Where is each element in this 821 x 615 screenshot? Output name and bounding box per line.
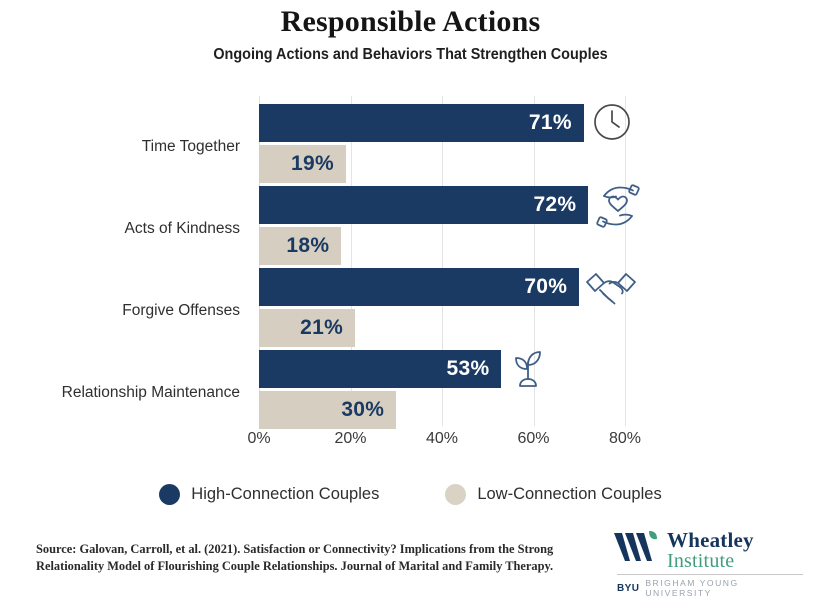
bar-value-label: 72% (533, 193, 588, 217)
logo-divider (617, 574, 803, 575)
x-axis-tick-label: 80% (609, 430, 641, 448)
legend-item[interactable]: Low-Connection Couples (445, 484, 661, 505)
logo-word-wheatley: Wheatley (667, 530, 754, 551)
x-axis-tick-label: 40% (426, 430, 458, 448)
bar: 21% (259, 309, 355, 347)
legend-swatch (445, 484, 466, 505)
bar-value-label: 19% (291, 152, 346, 176)
clock-icon (590, 100, 636, 146)
wheatley-institute-logo: Wheatley Institute BYU BRIGHAM YOUNG UNI… (613, 528, 805, 590)
legend-swatch (159, 484, 180, 505)
bar: 30% (259, 391, 396, 429)
x-axis-tick-label: 60% (517, 430, 549, 448)
source-line-2: Relationality Model of Flourishing Coupl… (36, 558, 581, 575)
bar-value-label: 30% (341, 398, 396, 422)
chart-legend: High-Connection CouplesLow-Connection Co… (0, 484, 821, 505)
bar-value-label: 21% (300, 316, 355, 340)
x-axis: 0%20%40%60%80% (259, 430, 679, 454)
bar-value-label: 18% (286, 234, 341, 258)
seedling-icon (505, 346, 551, 392)
handshake-icon (583, 266, 629, 312)
y-axis-label: Time Together (0, 138, 240, 156)
bar: 70% (259, 268, 579, 306)
bar-value-label: 70% (524, 275, 579, 299)
page-title: Responsible Actions (0, 4, 821, 40)
chart-header: Responsible Actions Ongoing Actions and … (0, 4, 821, 66)
bar: 53% (259, 350, 501, 388)
bar: 71% (259, 104, 584, 142)
chart-plot-area: Time TogetherActs of KindnessForgive Off… (0, 96, 821, 446)
x-axis-tick-label: 20% (334, 430, 366, 448)
chart-subtitle: Ongoing Actions and Behaviors That Stren… (29, 44, 793, 66)
bar-value-label: 53% (447, 357, 502, 381)
legend-label: High-Connection Couples (191, 485, 379, 504)
y-axis-label: Acts of Kindness (0, 220, 240, 238)
legend-item[interactable]: High-Connection Couples (159, 484, 379, 505)
bars-layer: 71%19%72%18%70%21%53%30% (259, 96, 779, 426)
logo-university-label: BRIGHAM YOUNG UNIVERSITY (645, 578, 805, 598)
y-axis-label: Relationship Maintenance (0, 384, 240, 402)
x-axis-tick-label: 0% (247, 430, 270, 448)
y-axis-label: Forgive Offenses (0, 302, 240, 320)
source-citation: Source: Galovan, Carroll, et al. (2021).… (36, 541, 581, 575)
hands-heart-icon (592, 180, 638, 226)
legend-label: Low-Connection Couples (477, 485, 661, 504)
wheatley-w-leaf-mark-icon (613, 530, 659, 571)
y-axis-category-labels: Time TogetherActs of KindnessForgive Off… (0, 96, 250, 426)
bar: 19% (259, 145, 346, 183)
logo-byu-label: BYU (617, 583, 639, 594)
bar: 18% (259, 227, 341, 265)
logo-word-institute: Institute (667, 551, 754, 571)
bar-value-label: 71% (529, 111, 584, 135)
bar: 72% (259, 186, 588, 224)
source-line-1: Source: Galovan, Carroll, et al. (2021).… (36, 541, 581, 558)
